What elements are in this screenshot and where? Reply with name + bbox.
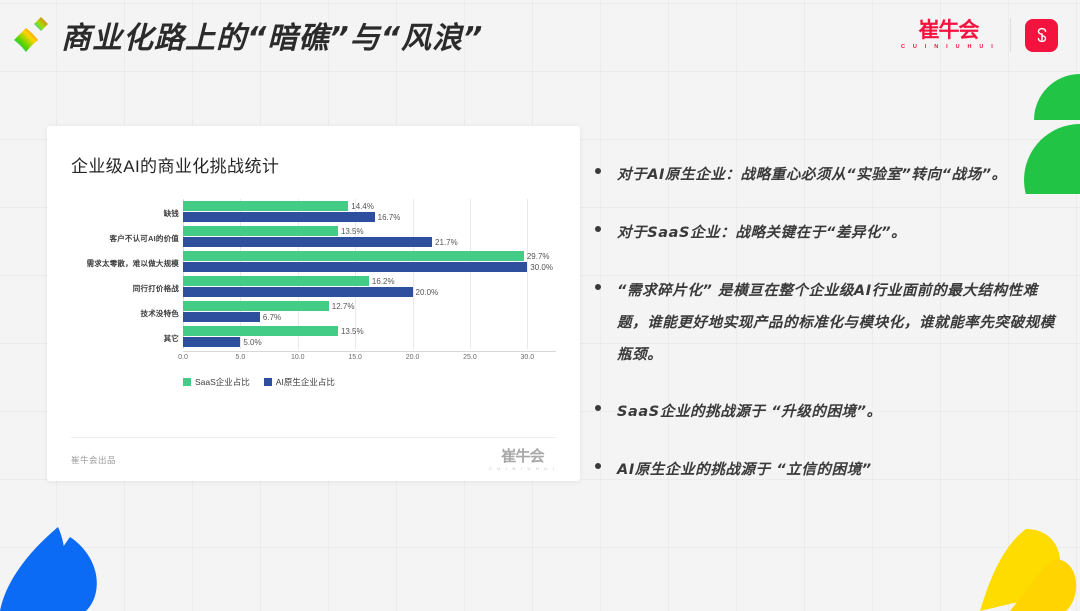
chart-bars-area: 14.4%16.7%13.5%21.7%29.7%30.0%16.2%20.0%… [183, 199, 556, 349]
chart-x-tick-label: 0.0 [178, 354, 188, 361]
bullet-text: “需求碎片化” 是横亘在整个企业级AI行业面前的最大结构性难题，谁能更好地实现产… [617, 276, 1065, 372]
chart-bar [183, 262, 527, 272]
bullet-item: 对于AI原生企业：战略重心必须从“实验室”转向“战场”。 [595, 160, 1065, 192]
chart-bar [183, 276, 369, 286]
chart-bar-row: 13.5% [183, 326, 556, 336]
bullet-dot-icon [595, 405, 601, 411]
chart-legend-item[interactable]: SaaS企业占比 [183, 376, 250, 388]
chart-bar [183, 326, 338, 336]
sparkle-icon [10, 12, 52, 58]
chart-bar-value-label: 20.0% [416, 288, 439, 297]
footer-logo: 崔牛会 C U I N I U H U I [489, 449, 556, 471]
chart-bar-value-label: 6.7% [263, 313, 281, 322]
chart-legend-item[interactable]: AI原生企业占比 [264, 376, 335, 388]
chart-bar-group: 16.2%20.0% [183, 274, 556, 299]
brand-logo: 崔牛会 C U I N I U H U I [901, 20, 996, 50]
chart-bar [183, 287, 413, 297]
chart-x-tick-label: 30.0 [520, 354, 534, 361]
chart-x-tick-label: 25.0 [463, 354, 477, 361]
chart-bar-value-label: 14.4% [351, 202, 374, 211]
chart-bar-value-label: 5.0% [243, 338, 261, 347]
bullet-text: 对于SaaS企业：战略关键在于“差异化”。 [617, 218, 906, 250]
chart-bar-group: 13.5%5.0% [183, 324, 556, 349]
chart-bar-groups: 14.4%16.7%13.5%21.7%29.7%30.0%16.2%20.0%… [183, 199, 556, 349]
footer-credit: 崔牛会出品 [71, 454, 116, 466]
chart-bar-row: 13.5% [183, 226, 556, 236]
chart-category-label: 其它 [71, 326, 183, 351]
chart-x-tick-label: 5.0 [236, 354, 246, 361]
header-left-group: 商业化路上的“暗礁”与“风浪” [10, 12, 483, 58]
chart-body: 缺钱客户不认可AI的价值需求太零散，难以做大规模同行打价格战技术没特色其它 14… [71, 183, 556, 437]
chart-bar [183, 301, 329, 311]
chart-title: 企业级AI的商业化挑战统计 [71, 152, 556, 177]
app-badge-button[interactable] [1025, 19, 1058, 52]
footer-logo-sub: C U I N I U H U I [489, 466, 556, 471]
chart-bar-row: 16.7% [183, 212, 556, 222]
chart-bar-row: 5.0% [183, 337, 556, 347]
chart-bar-row: 16.2% [183, 276, 556, 286]
chart-bar-row: 20.0% [183, 287, 556, 297]
chart-bar [183, 237, 432, 247]
brand-logo-sub: C U I N I U H U I [901, 44, 996, 50]
chart-bar [183, 201, 348, 211]
chart-bar-group: 29.7%30.0% [183, 249, 556, 274]
bullet-item: 对于SaaS企业：战略关键在于“差异化”。 [595, 218, 1065, 250]
bullet-dot-icon [595, 168, 601, 174]
chart-bar-row: 29.7% [183, 251, 556, 261]
s-loop-icon [1033, 26, 1051, 44]
chart-bar-row: 6.7% [183, 312, 556, 322]
chart-bar-row: 12.7% [183, 301, 556, 311]
chart-category-labels: 缺钱客户不认可AI的价值需求太零散，难以做大规模同行打价格战技术没特色其它 [71, 199, 183, 351]
chart-category-label: 需求太零散，难以做大规模 [71, 251, 183, 276]
chart-bar [183, 226, 338, 236]
chart-bar [183, 251, 524, 261]
chart-x-tick-label: 15.0 [348, 354, 362, 361]
chart-bar-group: 14.4%16.7% [183, 199, 556, 224]
chart-legend-swatch [183, 378, 191, 386]
chart-bar [183, 212, 375, 222]
bullet-dot-icon [595, 463, 601, 469]
chart-legend: SaaS企业占比AI原生企业占比 [183, 376, 556, 388]
chart-card: 企业级AI的商业化挑战统计 缺钱客户不认可AI的价值需求太零散，难以做大规模同行… [47, 126, 580, 481]
chart-x-tick-label: 20.0 [406, 354, 420, 361]
chart-category-label: 技术没特色 [71, 301, 183, 326]
page-header: 商业化路上的“暗礁”与“风浪” 崔牛会 C U I N I U H U I [0, 0, 1080, 70]
header-divider [1010, 18, 1011, 52]
bullet-dot-icon [595, 226, 601, 232]
chart-bar-value-label: 13.5% [341, 227, 364, 236]
chart-bar [183, 337, 240, 347]
bullet-text: SaaS企业的挑战源于 “升级的困境”。 [617, 397, 882, 429]
brand-logo-name: 崔牛会 [918, 20, 978, 41]
chart-bar-value-label: 16.7% [378, 213, 401, 222]
chart-bar-value-label: 12.7% [332, 302, 355, 311]
card-footer: 崔牛会出品 崔牛会 C U I N I U H U I [71, 437, 556, 481]
bullet-item: AI原生企业的挑战源于 “立信的困境” [595, 455, 1065, 487]
chart-bar-group: 12.7%6.7% [183, 299, 556, 324]
chart-bar-group: 13.5%21.7% [183, 224, 556, 249]
chart-category-label: 同行打价格战 [71, 276, 183, 301]
chart-bar-value-label: 29.7% [527, 252, 550, 261]
header-right-group: 崔牛会 C U I N I U H U I [901, 18, 1066, 52]
bullet-list: 对于AI原生企业：战略重心必须从“实验室”转向“战场”。对于SaaS企业：战略关… [595, 160, 1065, 513]
bullet-text: 对于AI原生企业：战略重心必须从“实验室”转向“战场”。 [617, 160, 1007, 192]
bullet-dot-icon [595, 284, 601, 290]
chart-plot-area: 缺钱客户不认可AI的价值需求太零散，难以做大规模同行打价格战技术没特色其它 14… [71, 199, 556, 351]
chart-bar-row: 14.4% [183, 201, 556, 211]
chart-category-label: 客户不认可AI的价值 [71, 226, 183, 251]
chart-x-tick-label: 10.0 [291, 354, 305, 361]
bullet-item: SaaS企业的挑战源于 “升级的困境”。 [595, 397, 1065, 429]
chart-bar-value-label: 21.7% [435, 238, 458, 247]
page-title: 商业化路上的“暗礁”与“风浪” [61, 13, 483, 57]
chart-legend-swatch [264, 378, 272, 386]
chart-bar-value-label: 13.5% [341, 327, 364, 336]
chart-bar [183, 312, 260, 322]
bullet-text: AI原生企业的挑战源于 “立信的困境” [617, 455, 872, 487]
chart-bar-row: 30.0% [183, 262, 556, 272]
chart-legend-label: AI原生企业占比 [276, 376, 335, 388]
chart-legend-label: SaaS企业占比 [195, 376, 250, 388]
bullet-item: “需求碎片化” 是横亘在整个企业级AI行业面前的最大结构性难题，谁能更好地实现产… [595, 276, 1065, 372]
chart-category-label: 缺钱 [71, 201, 183, 226]
footer-logo-name: 崔牛会 [501, 449, 544, 464]
chart-bar-value-label: 30.0% [530, 263, 553, 272]
chart-bar-value-label: 16.2% [372, 277, 395, 286]
chart-bar-row: 21.7% [183, 237, 556, 247]
chart-x-axis: 0.05.010.015.020.025.030.0 [183, 351, 556, 367]
